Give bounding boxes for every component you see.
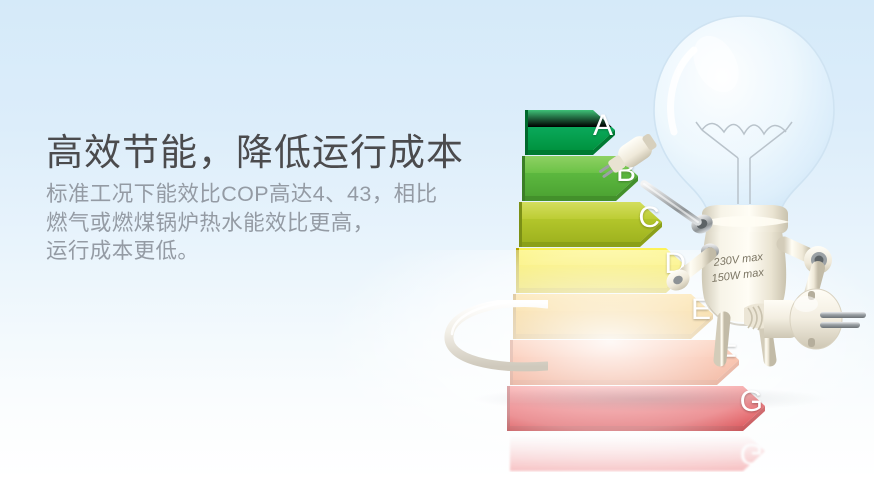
energy-bar-g-reflection: G (507, 426, 793, 472)
european-power-plug (742, 278, 868, 362)
energy-bar-g-label: G (740, 387, 793, 417)
power-cable (443, 300, 548, 372)
energy-efficiency-banner: 高效节能，降低运行成本 标准工况下能效比COP高达4、43，相比 燃气或燃煤锅炉… (0, 0, 874, 480)
